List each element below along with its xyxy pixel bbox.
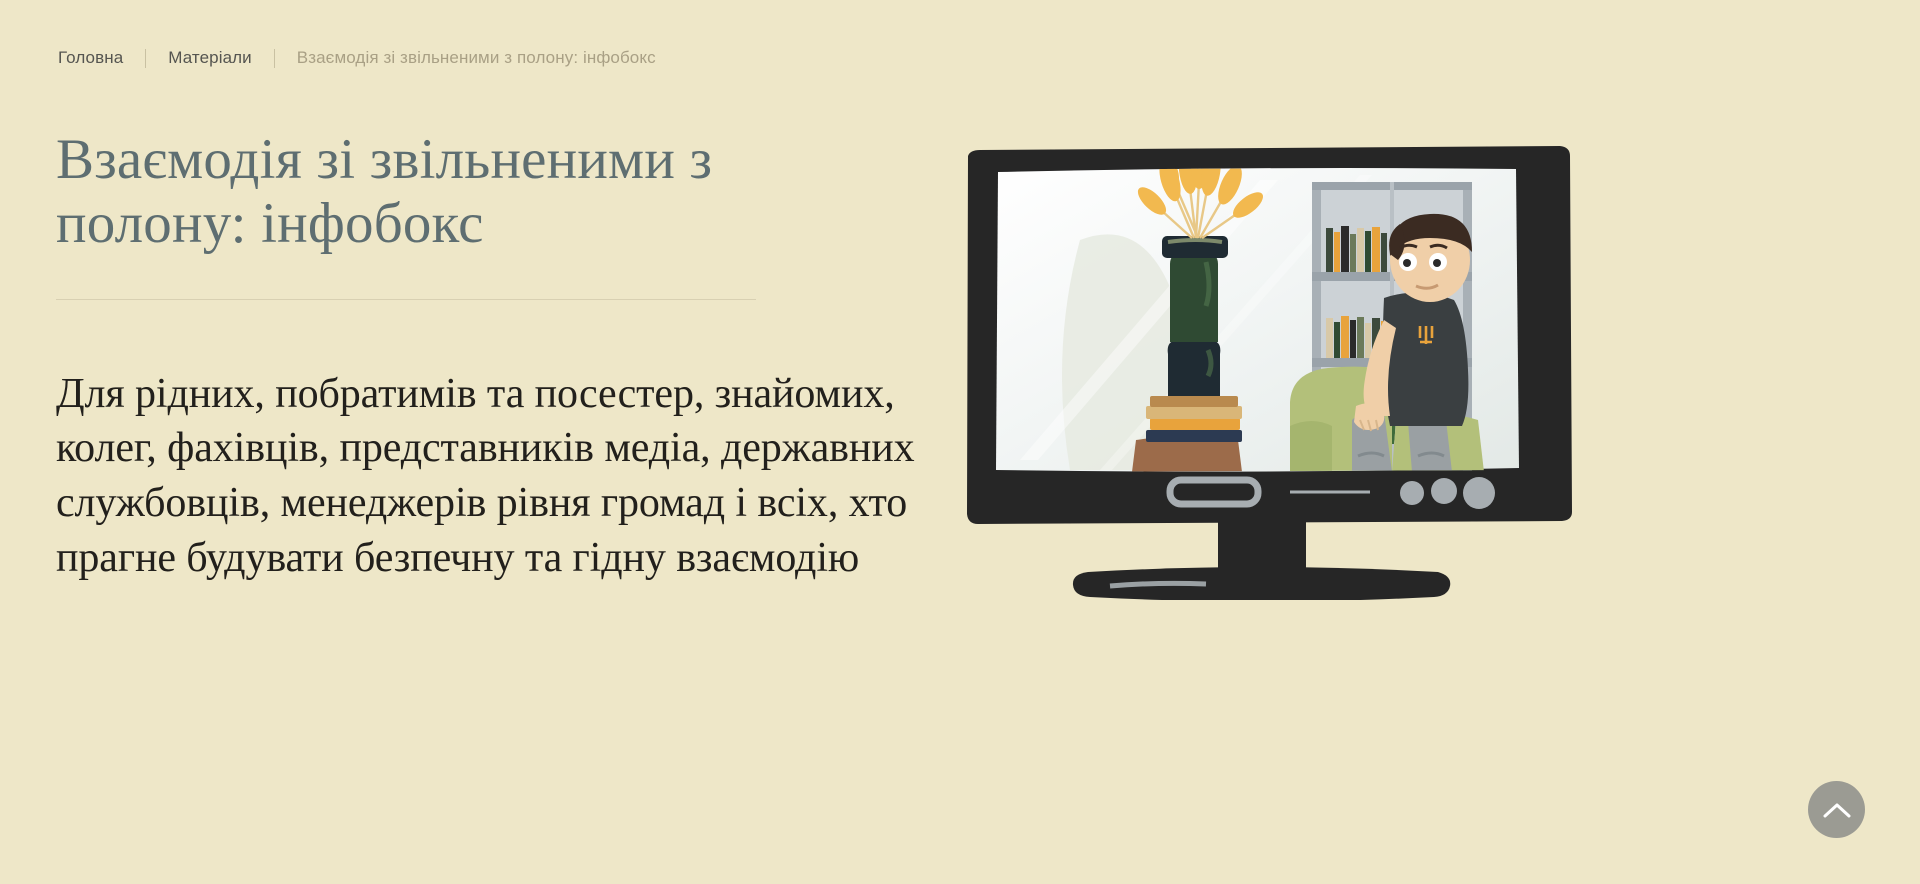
person-torso xyxy=(1383,292,1469,426)
tv-monitor-illustration xyxy=(960,120,1580,600)
breadcrumb-item-current: Взаємодія зі звільненими з полону: інфоб… xyxy=(297,48,656,68)
illustration-svg xyxy=(960,120,1580,600)
page-title: Взаємодія зі звільненими з полону: інфоб… xyxy=(56,128,816,257)
title-divider xyxy=(56,299,756,300)
breadcrumb-item-home[interactable]: Головна xyxy=(58,48,123,68)
breadcrumb-item-materials[interactable]: Матеріали xyxy=(168,48,252,68)
scroll-to-top-button[interactable] xyxy=(1808,781,1865,838)
breadcrumb-separator xyxy=(274,49,275,68)
stand-highlight xyxy=(1110,583,1206,586)
breadcrumb-separator xyxy=(145,49,146,68)
stacked-books xyxy=(1146,396,1242,442)
breadcrumb: Головна Матеріали Взаємодія зі звільнени… xyxy=(58,48,656,68)
main-content: Взаємодія зі звільненими з полону: інфоб… xyxy=(56,128,936,585)
monitor-stand-neck xyxy=(1218,521,1306,569)
chevron-up-icon xyxy=(1823,801,1851,819)
lead-paragraph: Для рідних, побратимів та посестер, знай… xyxy=(56,367,936,585)
